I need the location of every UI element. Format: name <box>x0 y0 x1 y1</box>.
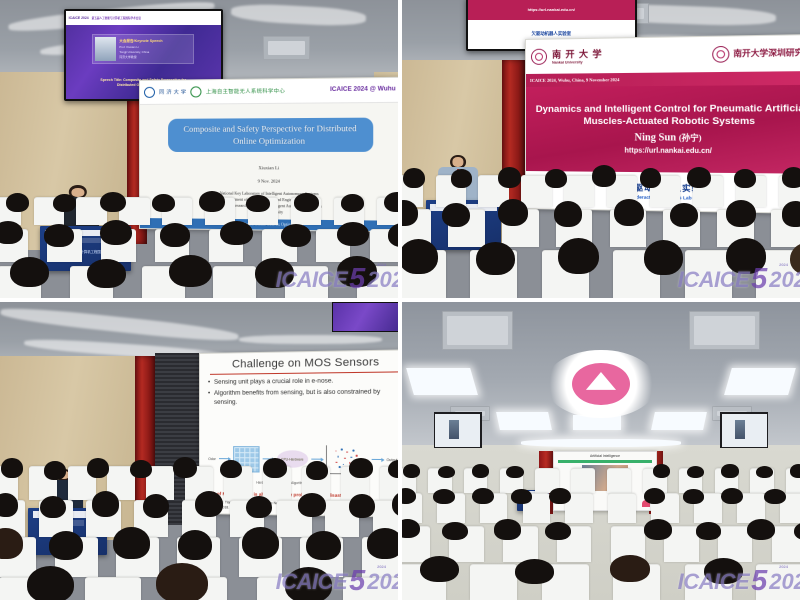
watermark-year: 202 <box>769 267 800 293</box>
slide-date: 9 Nov. 2024 <box>140 178 398 184</box>
watermark-year: 202 <box>769 569 800 595</box>
ac-vent <box>689 311 761 350</box>
panel-bottom-right[interactable]: Artificial Intelligence <box>402 302 800 600</box>
watermark-year: 202 <box>367 569 398 595</box>
lecture-room-bl: Challenge on MOS Sensors Sensing unit pl… <box>0 302 398 600</box>
slide-header-logo2: 上海自主智能无人系统科学中心 <box>206 88 285 96</box>
monitor-header-bar: ICAICE 2024 第五届人工智能与计算机工程国际学术会议 <box>66 11 221 25</box>
speaker-card: 大会报告/Keynote Speech Prof. Xiuxian Li Ton… <box>92 34 194 64</box>
watermark-number: 5 <box>751 565 767 598</box>
university-name-cn: 南 开 大 学 <box>552 47 603 61</box>
watermark-bl: 2024 ICAICE 5 202 <box>276 565 398 598</box>
ceiling-light-panel <box>725 368 796 395</box>
keynote-label: 大会报告/Keynote Speech <box>119 39 162 44</box>
institute-seal-icon <box>712 45 729 62</box>
ceiling-light-panel <box>406 368 477 395</box>
slide-title: Composite and Safety Perspective for Dis… <box>168 118 373 152</box>
emblem-icon <box>572 363 630 405</box>
monitor-url: https://url.nankai.edu.cn/ <box>468 0 635 20</box>
research-center-logo-icon <box>191 86 202 97</box>
lecture-room-tl: ICAICE 2024 第五届人工智能与计算机工程国际学术会议 大会报告/Key… <box>0 0 398 298</box>
monitor-brand: ICAICE 2024 <box>69 16 89 20</box>
nankai-seal-icon <box>531 48 547 64</box>
panel-top-left[interactable]: ICAICE 2024 第五届人工智能与计算机工程国际学术会议 大会报告/Key… <box>0 0 398 298</box>
slide-header: 同 济 大 学 上海自主智能无人系统科学中心 ICAICE 2024 @ Wuh… <box>140 78 398 105</box>
speaker-name-en: Ning Sun <box>635 132 677 143</box>
watermark-number: 5 <box>349 565 365 598</box>
side-monitor-left[interactable] <box>434 412 482 448</box>
slide-url: https://url.nankai.edu.cn/ <box>625 148 712 156</box>
watermark-brand: ICAICE <box>276 569 348 595</box>
slide-author: Xiuxian Li <box>140 165 398 171</box>
institute-name-cn: 南开大学深圳研究院 <box>734 47 800 60</box>
slide-conference-meta: ICAICE 2024, Wuhu, China, 9 November 202… <box>526 70 800 86</box>
ceiling-emblem-projection <box>545 350 656 419</box>
seat-row <box>402 468 800 493</box>
watermark-tl: 2024 ICAICE 5 202 <box>276 263 398 296</box>
watermark-br: 2024 ICAICE 5 202 <box>678 565 800 598</box>
watermark-year-tiny: 2024 <box>779 262 788 267</box>
slide-title: Challenge on MOS Sensors <box>200 350 398 371</box>
slide-header-logo1: 同 济 大 学 <box>159 89 186 96</box>
panel-top-right[interactable]: https://url.nankai.edu.cn/ 欠驱动机器人实验室 南 开… <box>402 0 800 298</box>
photo-collage: ICAICE 2024 第五届人工智能与计算机工程国际学术会议 大会报告/Key… <box>0 0 800 600</box>
watermark-brand: ICAICE <box>678 267 750 293</box>
slide-body: Dynamics and Intelligent Control for Pne… <box>526 85 800 174</box>
slide-title: Artificial Intelligence <box>554 454 655 458</box>
university-name-en: Nankai University <box>552 60 603 65</box>
ac-vent <box>442 311 514 350</box>
speaker-affiliation-cn: 同济大学教授 <box>119 55 162 59</box>
side-monitor-right[interactable] <box>720 412 768 448</box>
watermark-tr: 2024 ICAICE 5 202 <box>678 263 800 296</box>
ac-vent <box>263 36 311 60</box>
watermark-year-tiny: 2024 <box>377 564 386 569</box>
speaker-affiliation: Tongji University, China <box>119 50 162 54</box>
bullet-item: Sensing unit plays a crucial role in e-n… <box>208 376 398 387</box>
ceiling-light-panel <box>651 412 707 430</box>
watermark-year-tiny: 2024 <box>779 564 788 569</box>
speaker-name: Prof. Xiuxian Li <box>119 45 162 49</box>
watermark-brand: ICAICE <box>678 569 750 595</box>
corner-monitor[interactable] <box>332 302 398 332</box>
slide-speaker: Ning Sun (孙宁) <box>635 132 702 144</box>
slide-header-tag: ICAICE 2024 @ Wuhu <box>327 86 398 95</box>
ceiling-light-strip <box>239 335 382 344</box>
ceiling-light-strip <box>521 439 680 446</box>
title-rule <box>210 371 398 375</box>
watermark-number: 5 <box>349 263 365 296</box>
monitor-subtitle: 第五届人工智能与计算机工程国际学术会议 <box>92 16 141 20</box>
watermark-year-tiny: 2024 <box>377 262 386 267</box>
ceiling-light-panel <box>496 412 552 430</box>
slide-bullets: Sensing unit plays a crucial role in e-n… <box>200 376 398 408</box>
tongji-logo-icon <box>144 87 155 98</box>
speaker-portrait <box>95 37 116 61</box>
slide-logo-bar: 南 开 大 学 Nankai University 南开大学深圳研究院 <box>526 35 800 74</box>
watermark-number: 5 <box>751 263 767 296</box>
bullet-item: Algorithm benefits from sensing, but is … <box>208 388 398 408</box>
lecture-room-tr: https://url.nankai.edu.cn/ 欠驱动机器人实验室 南 开… <box>402 0 800 298</box>
lecture-room-br: Artificial Intelligence <box>402 302 800 600</box>
watermark-brand: ICAICE <box>276 267 348 293</box>
panel-bottom-left[interactable]: Challenge on MOS Sensors Sensing unit pl… <box>0 302 398 600</box>
speaker-name-cn: (孙宁) <box>679 133 702 142</box>
slide-title: Dynamics and Intelligent Control for Pne… <box>526 102 800 128</box>
watermark-year: 202 <box>367 267 398 293</box>
